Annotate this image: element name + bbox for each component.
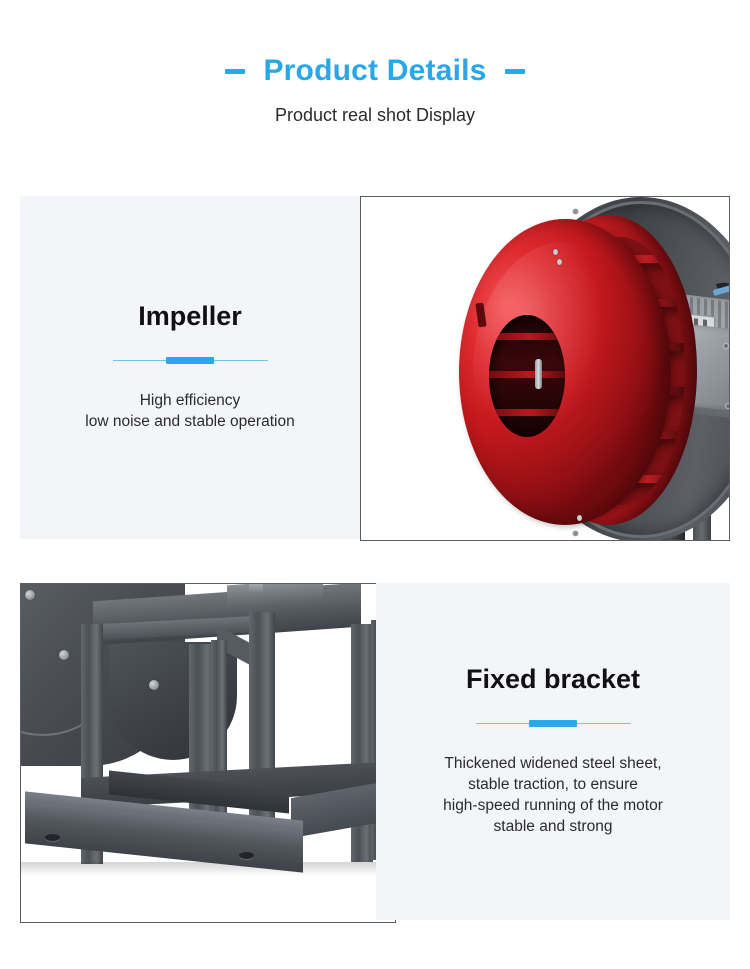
inner-blade: [489, 333, 565, 340]
section-fixed-bracket: Fixed bracket Thickened widened steel sh…: [20, 583, 730, 923]
impeller-photo: [360, 196, 730, 541]
page-header: Product Details Product real shot Displa…: [0, 56, 750, 124]
impeller-title: Impeller: [138, 303, 242, 330]
junction-box-screw: [725, 403, 729, 409]
divider-thick-bar: [166, 357, 214, 364]
page-subtitle: Product real shot Display: [0, 106, 750, 124]
housing-bolt: [573, 531, 578, 536]
housing-screw: [25, 590, 35, 600]
inner-blade: [489, 371, 565, 378]
impeller-screw: [557, 259, 562, 265]
mounting-bolt: [249, 584, 263, 592]
dash-right-icon: [505, 69, 525, 74]
product-details-page: Product Details Product real shot Displa…: [0, 0, 750, 969]
title-row: Product Details: [0, 56, 750, 86]
impeller-photo-stage: [361, 197, 729, 540]
housing-screw: [59, 650, 69, 660]
housing-bolt: [573, 209, 578, 214]
impeller-divider: [113, 356, 268, 364]
inner-blade: [489, 409, 565, 416]
dash-left-icon: [225, 69, 245, 74]
junction-box-screw: [723, 343, 729, 349]
impeller-inlet-opening: [489, 315, 565, 437]
divider-thick-bar: [529, 720, 577, 727]
impeller-shaft: [535, 359, 542, 389]
bracket-title: Fixed bracket: [466, 666, 640, 693]
bracket-photo: [20, 583, 396, 923]
housing-screw: [149, 680, 159, 690]
impeller-description: High efficiency low noise and stable ope…: [85, 390, 294, 432]
impeller-text-panel: Impeller High efficiency low noise and s…: [20, 196, 360, 539]
bracket-photo-stage: [21, 584, 395, 922]
impeller-screw: [577, 515, 582, 521]
anchor-hole: [45, 834, 60, 841]
section-impeller: Impeller High efficiency low noise and s…: [20, 196, 730, 541]
impeller-screw: [553, 249, 558, 255]
floor-shadow: [21, 862, 395, 876]
bracket-text-panel: Fixed bracket Thickened widened steel sh…: [376, 583, 730, 920]
bracket-description: Thickened widened steel sheet, stable tr…: [443, 753, 663, 837]
page-title: Product Details: [263, 56, 486, 86]
anchor-hole: [239, 852, 254, 859]
bracket-divider: [476, 719, 631, 727]
